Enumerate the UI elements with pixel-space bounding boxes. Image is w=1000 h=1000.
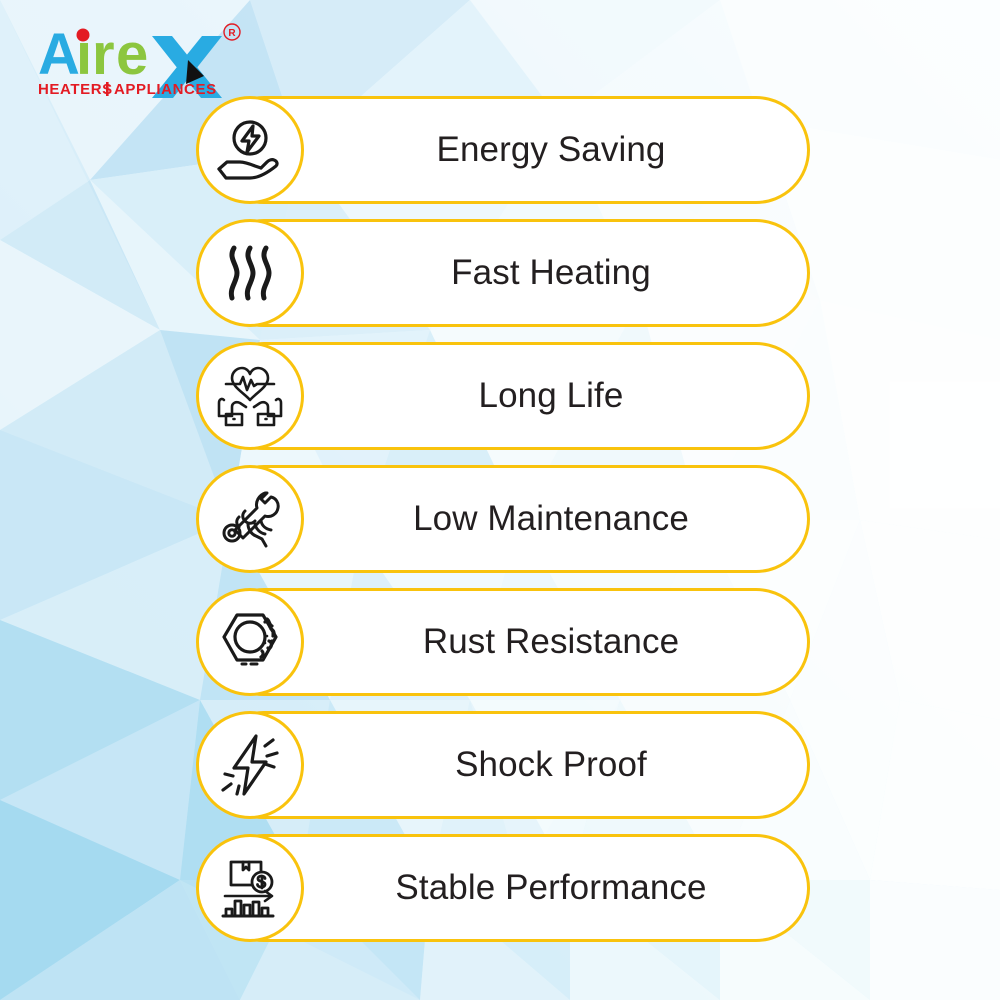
logo-dot-icon — [77, 29, 90, 42]
feature-row[interactable]: Long Life — [196, 342, 810, 450]
hand-lightning-circle-icon — [196, 96, 304, 204]
feature-label: Low Maintenance — [306, 465, 796, 573]
logo-tagline-appliances: APPLIANCES — [114, 81, 217, 98]
box-dollar-bar-chart-icon — [196, 834, 304, 942]
promo-feature-graphic: A i r e R HEATERS APPLIANCES Energy Savi… — [0, 0, 1000, 1000]
feature-row[interactable]: Low Maintenance — [196, 465, 810, 573]
feature-row[interactable]: Fast Heating — [196, 219, 810, 327]
feature-row[interactable]: Stable Performance — [196, 834, 810, 942]
rusty-hex-nut-icon — [196, 588, 304, 696]
hands-heart-pulse-icon — [196, 342, 304, 450]
feature-row[interactable]: Energy Saving — [196, 96, 810, 204]
brand-logo: A i r e R HEATERS APPLIANCES — [36, 22, 246, 102]
feature-label: Rust Resistance — [306, 588, 796, 696]
heat-waves-icon — [196, 219, 304, 327]
feature-row[interactable]: Rust Resistance — [196, 588, 810, 696]
feature-label: Stable Performance — [306, 834, 796, 942]
logo-tagline-heaters: HEATERS — [38, 81, 113, 98]
hand-wrench-icon — [196, 465, 304, 573]
logo-letter-a: A — [38, 22, 80, 87]
feature-label: Fast Heating — [306, 219, 796, 327]
feature-label: Long Life — [306, 342, 796, 450]
feature-label: Energy Saving — [306, 96, 796, 204]
feature-label: Shock Proof — [306, 711, 796, 819]
logo-letter-e: e — [116, 22, 148, 87]
lightning-bolt-spark-icon — [196, 711, 304, 819]
feature-row[interactable]: Shock Proof — [196, 711, 810, 819]
logo-tagline: HEATERS APPLIANCES — [38, 81, 217, 98]
logo-registered-mark: R — [224, 24, 240, 40]
feature-list: Energy Saving Fast Heating — [0, 0, 1000, 1000]
logo-letter-r: r — [92, 22, 115, 87]
svg-text:R: R — [228, 28, 236, 39]
